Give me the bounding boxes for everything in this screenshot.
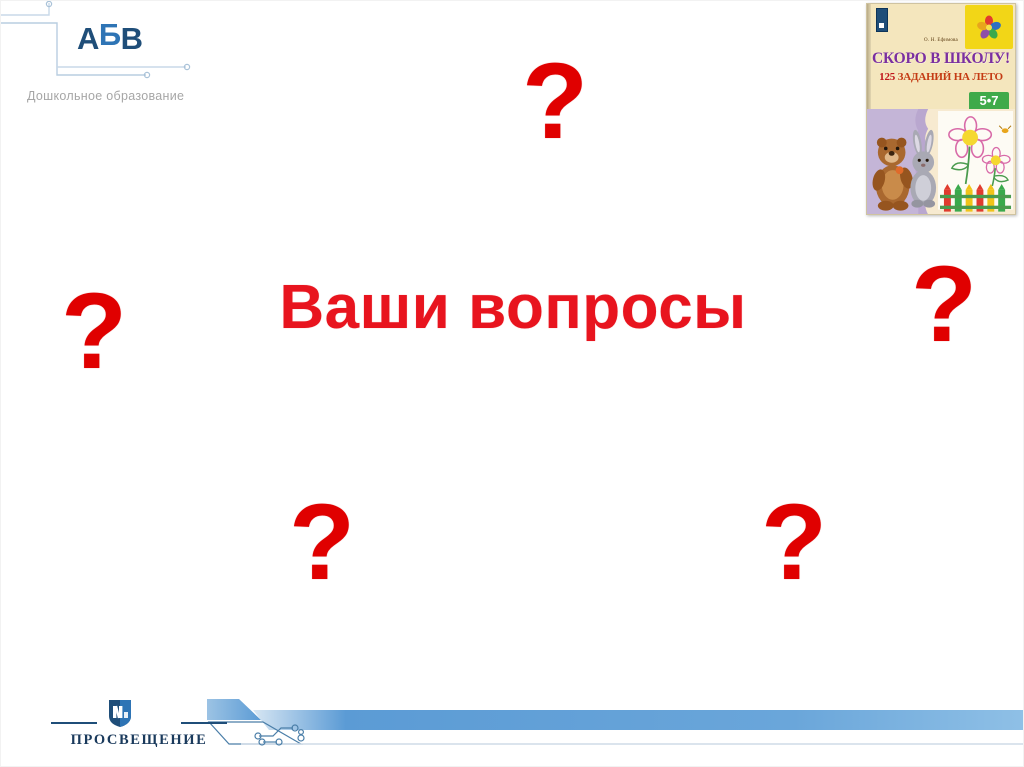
book-author: О. Н. Ефимова bbox=[867, 38, 1015, 43]
publisher-logo: ПРОСВЕЩЕНИЕ bbox=[49, 698, 229, 754]
logo-letter-a: А bbox=[77, 21, 99, 56]
question-mark-bottom-left: ? bbox=[289, 488, 355, 596]
book-task-count: 125 bbox=[879, 71, 895, 83]
book-subtitle: 125 ЗАДАНИЙ НА ЛЕТО bbox=[867, 71, 1015, 83]
book-subtitle-rest: ЗАДАНИЙ НА ЛЕТО bbox=[895, 71, 1003, 83]
logo-rule-right bbox=[181, 722, 227, 724]
shield-icon bbox=[107, 698, 133, 728]
book-illustration bbox=[867, 109, 1015, 215]
publisher-name: ПРОСВЕЩЕНИЕ bbox=[49, 732, 229, 749]
age-range: 5•7 bbox=[969, 94, 1009, 108]
logo-letter-b: Б bbox=[99, 17, 121, 52]
question-mark-top: ? bbox=[522, 47, 588, 155]
slide-canvas: АБВ Дошкольное образование О. Н. Ефимова… bbox=[0, 0, 1024, 767]
book-title: СКОРО В ШКОЛУ! bbox=[867, 50, 1015, 68]
brand-logo-abv: АБВ bbox=[77, 23, 143, 54]
slide-title: Ваши вопросы bbox=[1, 277, 1024, 339]
logo-rule-left bbox=[51, 722, 97, 724]
brand-subtitle: Дошкольное образование bbox=[27, 89, 184, 103]
book-cover: О. Н. Ефимова СКОРО В ШКОЛУ! 125 ЗАДАНИЙ… bbox=[866, 3, 1016, 215]
question-mark-bottom-right: ? bbox=[761, 488, 827, 596]
logo-letter-v: В bbox=[121, 21, 143, 56]
publisher-mark-icon bbox=[876, 8, 888, 32]
